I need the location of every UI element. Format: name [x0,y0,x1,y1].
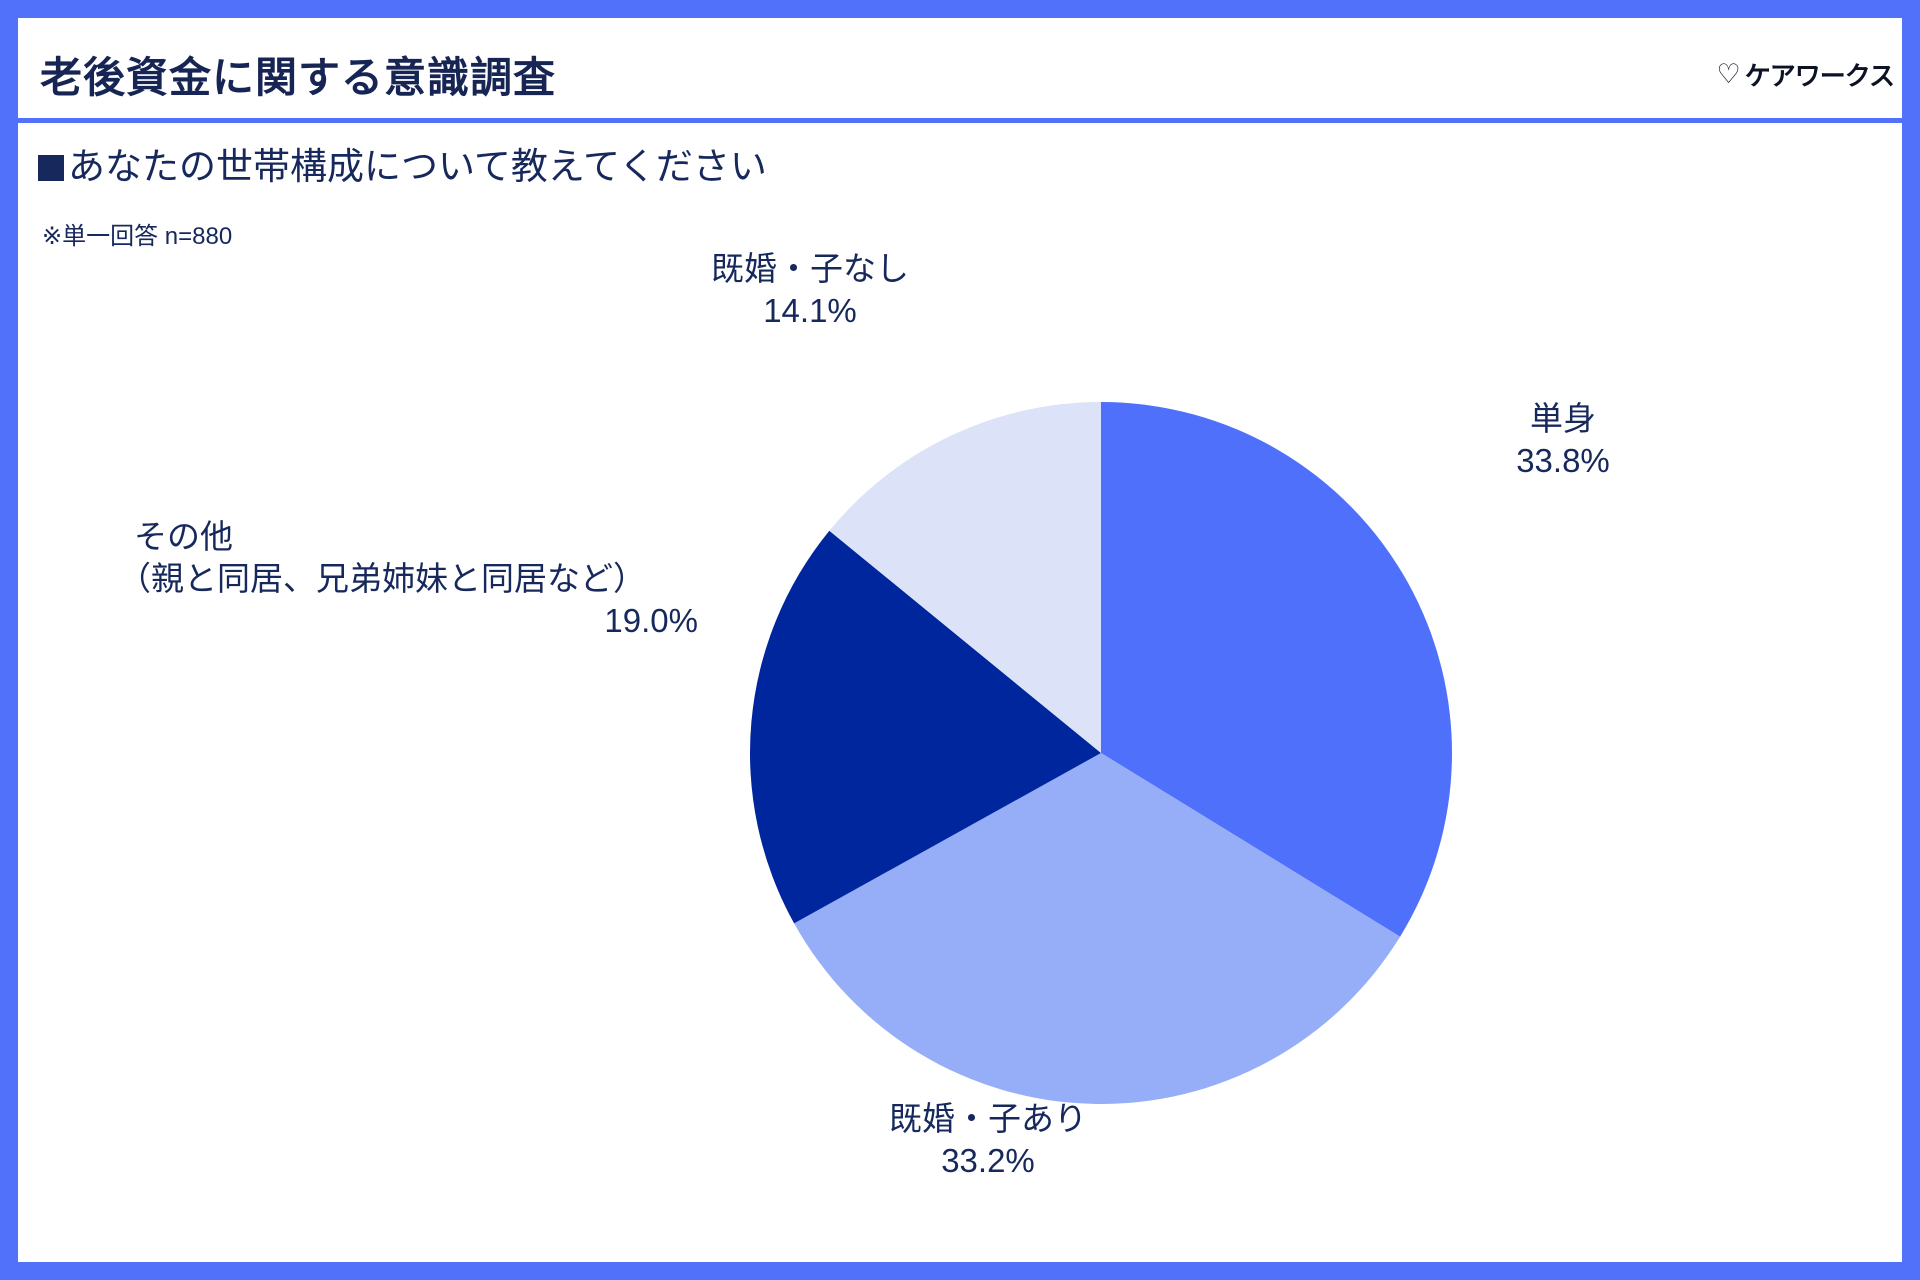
question-note: ※単一回答 n=880 [42,216,232,251]
pie-label-sonota-detail: （親と同居、兄弟姉妹と同居など） [118,558,698,600]
page-title: 老後資金に関する意識調査 [40,44,556,105]
pie-label-tanshin-value: 33.8% [1438,440,1688,482]
pie-label-kikon-konashi-name: 既婚・子なし [711,250,909,287]
question-text: あなたの世帯構成について教えてください [68,146,767,187]
slide-canvas: 老後資金に関する意識調査 ♡ ケアワークス あなたの世帯構成について教えてくださ… [18,18,1902,1262]
heart-icon: ♡ [1717,61,1741,88]
pie-label-sonota-value: 19.0% [118,600,698,642]
pie-label-sonota-name: その他 [118,516,698,558]
pie-label-kikon-koari-name: 既婚・子あり [889,1100,1087,1137]
square-bullet-icon [38,155,64,181]
brand-name: ケアワークス [1745,56,1894,93]
pie-label-tanshin: 単身 33.8% [1438,398,1688,482]
pie-label-sonota: その他 （親と同居、兄弟姉妹と同居など） 19.0% [118,516,698,642]
pie-label-kikon-konashi-value: 14.1% [630,290,990,332]
pie-label-kikon-konashi: 既婚・子なし 14.1% [630,248,990,332]
header-divider [18,118,1902,123]
brand-logo: ♡ ケアワークス [1717,56,1894,93]
slide-header: 老後資金に関する意識調査 ♡ ケアワークス [18,18,1902,120]
question-heading: あなたの世帯構成について教えてください [38,136,767,190]
pie-label-kikon-koari: 既婚・子あり 33.2% [808,1098,1168,1182]
pie-label-kikon-koari-value: 33.2% [808,1140,1168,1182]
pie-chart-svg [736,388,1466,1118]
pie-label-tanshin-name: 単身 [1530,400,1596,437]
pie-chart: 既婚・子なし 14.1% 単身 33.8% その他 （親と同居、兄弟姉妹と同居な… [18,248,1902,1258]
